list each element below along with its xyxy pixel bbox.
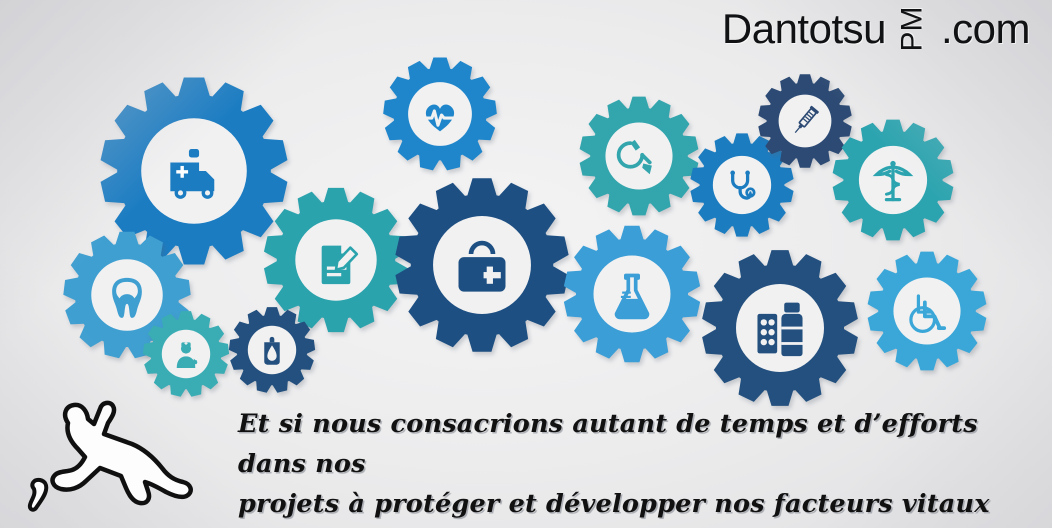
gear-heartbeat xyxy=(382,56,498,172)
gear-firstaid xyxy=(393,176,571,354)
site-wordmark: Dantotsu PM .com xyxy=(722,8,1030,50)
gear-medicine xyxy=(700,248,860,408)
gear-microscope xyxy=(578,95,700,217)
quote-line-2: projets à protéger et développer nos fac… xyxy=(238,484,1044,528)
quote-text: Et si nous consacrions autant de temps e… xyxy=(238,404,1044,528)
gear-nurse xyxy=(142,310,230,398)
brand-pm-mark: PM xyxy=(897,7,927,52)
gear-hub xyxy=(736,284,824,372)
gear-caduceus xyxy=(831,118,955,242)
gear-hub xyxy=(594,256,671,333)
poster-canvas: Dantotsu PM .com Et si nous consacrions … xyxy=(0,0,1052,528)
gear-wheelchair xyxy=(866,250,988,372)
gear-apron xyxy=(228,306,316,394)
chalk-body-outline-icon xyxy=(12,392,197,524)
gear-hub xyxy=(605,122,672,189)
brand-tld: .com xyxy=(941,8,1030,50)
gear-flask xyxy=(562,224,702,364)
gear-hub xyxy=(162,330,210,378)
brand-name: Dantotsu xyxy=(722,8,886,50)
quote-line-1: Et si nous consacrions autant de temps e… xyxy=(238,404,1044,484)
